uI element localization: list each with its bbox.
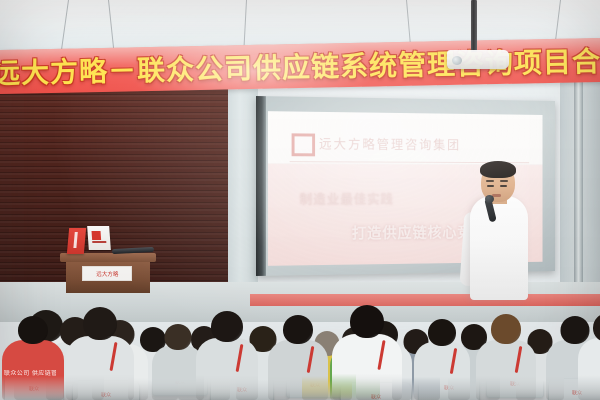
lanyard [110, 342, 118, 371]
audience-member-head [165, 324, 192, 350]
audience-member-head [83, 307, 117, 340]
projector-lens-icon [452, 56, 462, 65]
speaker-eyebrow-left [486, 180, 494, 182]
slide-subtitle-line: 制造业最佳实践 [299, 189, 393, 208]
lanyard [236, 344, 244, 372]
seminar-photo-scene: 远大方略管理咨询集团 制造业最佳实践 打造供应链核心竞争力 远大方略 联众联众联… [0, 0, 600, 400]
audience-member-torso: 联众公司 供应链管理 [2, 340, 64, 400]
lanyard [377, 340, 385, 370]
speaker-microphone-head [485, 195, 494, 203]
company-logo-icon [292, 133, 315, 156]
audience-member-head [428, 319, 456, 346]
audience-member [578, 303, 600, 400]
audience-member-torso [196, 338, 258, 400]
slide-header-text: 远大方略管理咨询集团 [319, 134, 461, 154]
audience-member [414, 309, 470, 400]
lanyard [307, 346, 315, 373]
projector-mount-pole [471, 0, 477, 52]
audience-member-torso [268, 340, 328, 400]
audience-member-head [18, 316, 48, 344]
audience-member-torso [476, 340, 536, 400]
speaker-eye-right [500, 185, 507, 187]
audience-member: 联众公司 供应链管理 [2, 306, 64, 400]
lanyard [450, 348, 457, 374]
audience-member [196, 301, 258, 400]
audience-member-head [211, 311, 243, 342]
red-shirt-text: 联众公司 供应链管理 [4, 370, 56, 378]
audience-member-head [283, 315, 313, 344]
audience: 联众联众联众联众联众联众联众联众联众联众公司 供应链管理 [0, 240, 600, 400]
slide-header: 远大方略管理咨询集团 [268, 111, 543, 164]
audience-member-torso [332, 334, 402, 400]
lanyard [515, 346, 523, 373]
audience-member [66, 297, 134, 400]
audience-member-head [350, 305, 384, 338]
speaker-eyebrow-right [500, 180, 508, 182]
audience-member-head [491, 314, 521, 344]
table-tent-white-mark [92, 231, 102, 240]
audience-member [476, 304, 536, 400]
audience-member-torso [414, 342, 470, 400]
speaker-eye-left [487, 185, 494, 187]
audience-member [268, 305, 328, 400]
speaker-hair [480, 161, 516, 178]
audience-member [332, 295, 402, 400]
audience-member-torso [578, 338, 600, 400]
audience-member-torso [66, 336, 134, 400]
